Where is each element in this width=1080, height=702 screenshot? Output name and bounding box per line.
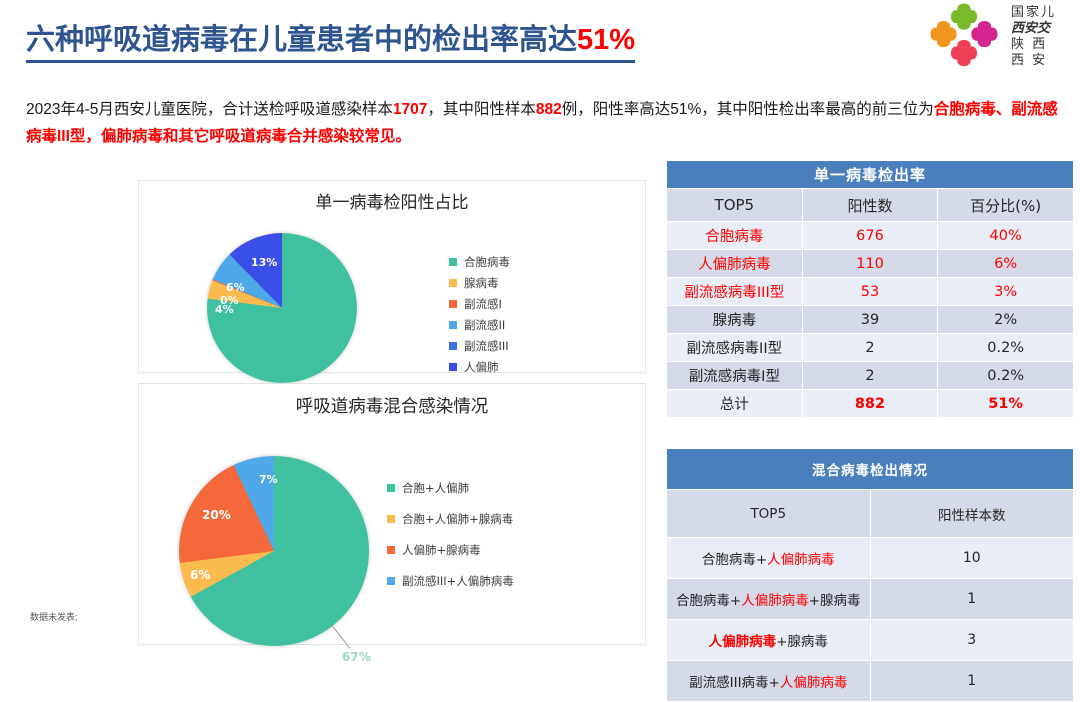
legend-label: 合胞+人偏肺+腺病毒 <box>402 512 513 526</box>
table1-cell-count: 676 <box>802 222 938 250</box>
table1-cell-name: 副流感病毒III型 <box>667 278 803 306</box>
table-caption-row: 单一病毒检出率 <box>667 161 1074 189</box>
combo-part-a: 副流感III病毒+ <box>689 675 780 691</box>
combo-part-c: +腺病毒 <box>809 593 861 609</box>
legend-item: 人偏肺+腺病毒 <box>387 543 514 557</box>
pie2-label-hmpv-adeno: 20% <box>202 508 231 522</box>
table1-cell-name: 副流感病毒II型 <box>667 334 803 362</box>
pie2-label-rsv-hmpv-adeno: 6% <box>190 568 210 582</box>
table1-cell-name: 腺病毒 <box>667 306 803 334</box>
chart-title-1: 单一病毒检阳性占比 <box>139 188 645 213</box>
footnote: 数据未发表; <box>30 610 78 623</box>
table-row: 腺病毒 39 2% <box>667 306 1074 334</box>
table-row: 人偏肺病毒 110 6% <box>667 250 1074 278</box>
combo-part-a: 合胞病毒+ <box>676 593 741 609</box>
chart-legend-2: 合胞+人偏肺 合胞+人偏肺+腺病毒 人偏肺+腺病毒 副流感III+人偏肺病毒 <box>387 481 514 605</box>
summary-paragraph: 2023年4-5月西安儿童医院，合计送检呼吸道感染样本1707，其中阳性样本88… <box>26 96 1070 150</box>
pie2-leader-line <box>332 626 350 649</box>
legend-swatch-icon <box>449 279 457 287</box>
table2-cell-count: 10 <box>870 538 1074 579</box>
table1-cell-pct: 6% <box>938 250 1074 278</box>
para-number-total-samples: 1707 <box>393 101 427 118</box>
table1-cell-count: 2 <box>802 362 938 390</box>
legend-item: 副流感I <box>449 297 510 311</box>
pie2-label-pi3-hmpv: 7% <box>259 473 278 486</box>
table2-cell-count: 3 <box>870 620 1074 661</box>
table1-col-2: 百分比(%) <box>938 189 1074 222</box>
table1-cell-pct: 0.2% <box>938 334 1074 362</box>
combo-part-a: 合胞病毒+ <box>702 552 767 568</box>
table1-cell-count: 110 <box>802 250 938 278</box>
combo-part-c: +腺病毒 <box>776 634 828 650</box>
table-row: 副流感III病毒+人偏肺病毒 1 <box>667 661 1074 702</box>
legend-swatch-icon <box>449 258 457 266</box>
legend-label: 人偏肺 <box>464 360 499 374</box>
table1-cell-pct: 3% <box>938 278 1074 306</box>
table-single-virus-detection: 单一病毒检出率 TOP5 阳性数 百分比(%) 合胞病毒 676 40% 人偏肺… <box>666 160 1074 418</box>
para-part-3: 例，阳性率高达51%，其中阳性检出率最高的前三位为 <box>562 101 934 118</box>
legend-label: 副流感I <box>464 297 502 311</box>
legend-label: 副流感III+人偏肺病毒 <box>402 574 514 588</box>
slide-root: 六种呼吸道病毒在儿童患者中的检出率高达51% 国家儿 西安交 陕 西 西 安 2… <box>0 0 1080 677</box>
table1-cell-name: 人偏肺病毒 <box>667 250 803 278</box>
table1-col-0: TOP5 <box>667 189 803 222</box>
legend-swatch-icon <box>449 342 457 350</box>
pie1-label-pi3: 6% <box>226 281 245 294</box>
combo-part-b: 人偏肺病毒 <box>780 675 848 691</box>
table-row: 副流感病毒III型 53 3% <box>667 278 1074 306</box>
table-row: 合胞病毒+人偏肺病毒+腺病毒 1 <box>667 579 1074 620</box>
legend-item: 人偏肺 <box>449 360 510 374</box>
table-mixed-virus-detection: 混合病毒检出情况 TOP5 阳性样本数 合胞病毒+人偏肺病毒 10 合胞病毒+人… <box>666 448 1074 702</box>
table2-cell-count: 1 <box>870 661 1074 702</box>
legend-item: 合胞病毒 <box>449 255 510 269</box>
combo-part-b: 人偏肺病毒 <box>709 634 777 650</box>
legend-swatch-icon <box>387 515 395 523</box>
legend-label: 副流感III <box>464 339 509 353</box>
legend-item: 副流感III+人偏肺病毒 <box>387 574 514 588</box>
table2-cell-combo: 合胞病毒+人偏肺病毒 <box>667 538 871 579</box>
legend-label: 人偏肺+腺病毒 <box>402 543 481 557</box>
page-title-highlight: 51% <box>577 24 635 56</box>
table1-cell-pct: 0.2% <box>938 362 1074 390</box>
para-part-1: 2023年4-5月西安儿童医院，合计送检呼吸道感染样本 <box>26 101 393 118</box>
organization-logo: 国家儿 西安交 陕 西 西 安 <box>925 2 1056 72</box>
legend-item: 腺病毒 <box>449 276 510 290</box>
legend-label: 腺病毒 <box>464 276 499 290</box>
table1-cell-pct: 51% <box>938 390 1074 418</box>
table1-caption: 单一病毒检出率 <box>667 161 1074 189</box>
flower-logo-icon <box>925 2 1003 72</box>
page-title-main: 六种呼吸道病毒在儿童患者中的检出率高达 <box>26 24 577 56</box>
table-row: 合胞病毒 676 40% <box>667 222 1074 250</box>
legend-item: 合胞+人偏肺 <box>387 481 514 495</box>
legend-item: 合胞+人偏肺+腺病毒 <box>387 512 514 526</box>
table2-col-0: TOP5 <box>667 490 871 538</box>
table-header-row: TOP5 阳性数 百分比(%) <box>667 189 1074 222</box>
table2-cell-count: 1 <box>870 579 1074 620</box>
table1-cell-pct: 2% <box>938 306 1074 334</box>
page-title: 六种呼吸道病毒在儿童患者中的检出率高达51% <box>26 16 635 63</box>
chart-body-1: 13% 6% 0% 4% 77% 合胞病毒 腺病毒 副流感I 副流感II 副流感… <box>139 213 645 404</box>
combo-part-b: 人偏肺病毒 <box>767 552 835 568</box>
table-caption-row: 混合病毒检出情况 <box>667 449 1074 490</box>
legend-swatch-icon <box>387 546 395 554</box>
table1-cell-count: 2 <box>802 334 938 362</box>
legend-label: 合胞+人偏肺 <box>402 481 469 495</box>
chart-title-2: 呼吸道病毒混合感染情况 <box>139 393 645 418</box>
pie1-label-renpianfei: 13% <box>251 256 277 269</box>
legend-swatch-icon <box>449 363 457 371</box>
legend-item: 副流感II <box>449 318 510 332</box>
logo-line-2: 西安交 <box>1011 21 1056 37</box>
pie2-label-rsv-hmpv: 67% <box>342 650 371 664</box>
legend-item: 副流感III <box>449 339 510 353</box>
legend-swatch-icon <box>387 577 395 585</box>
legend-label: 合胞病毒 <box>464 255 510 269</box>
table1-cell-count: 882 <box>802 390 938 418</box>
chart-legend-1: 合胞病毒 腺病毒 副流感I 副流感II 副流感III 人偏肺 <box>449 255 510 381</box>
table1-cell-name: 副流感病毒I型 <box>667 362 803 390</box>
table-row: 副流感病毒I型 2 0.2% <box>667 362 1074 390</box>
table-row: 人偏肺病毒+腺病毒 3 <box>667 620 1074 661</box>
logo-line-3: 陕 西 <box>1011 37 1056 53</box>
table-row: 合胞病毒+人偏肺病毒 10 <box>667 538 1074 579</box>
table1-cell-count: 39 <box>802 306 938 334</box>
table1-cell-name: 合胞病毒 <box>667 222 803 250</box>
chart-card-mixed-infection: 呼吸道病毒混合感染情况 7% 20% 6% 67% 合胞+人偏肺 合胞+人偏肺+… <box>138 383 646 645</box>
legend-swatch-icon <box>449 300 457 308</box>
logo-text: 国家儿 西安交 陕 西 西 安 <box>1011 5 1056 69</box>
table-row: 副流感病毒II型 2 0.2% <box>667 334 1074 362</box>
table-header-row: TOP5 阳性样本数 <box>667 490 1074 538</box>
logo-line-4: 西 安 <box>1011 53 1056 69</box>
table2-caption: 混合病毒检出情况 <box>667 449 1074 490</box>
table2-col-1: 阳性样本数 <box>870 490 1074 538</box>
table2-cell-combo: 副流感III病毒+人偏肺病毒 <box>667 661 871 702</box>
logo-line-1: 国家儿 <box>1011 5 1056 21</box>
table1-cell-count: 53 <box>802 278 938 306</box>
table-total-row: 总计 882 51% <box>667 390 1074 418</box>
pie1-label-adeno: 4% <box>215 303 234 316</box>
table1-cell-pct: 40% <box>938 222 1074 250</box>
chart-card-single-virus: 单一病毒检阳性占比 13% 6% 0% 4% 77% 合胞病毒 腺病毒 副流感I… <box>138 180 646 373</box>
table2-cell-combo: 合胞病毒+人偏肺病毒+腺病毒 <box>667 579 871 620</box>
combo-part-b: 人偏肺病毒 <box>741 593 809 609</box>
para-number-positive-samples: 882 <box>536 101 562 118</box>
chart-body-2: 7% 20% 6% 67% 合胞+人偏肺 合胞+人偏肺+腺病毒 人偏肺+腺病毒 … <box>139 418 645 678</box>
table2-cell-combo: 人偏肺病毒+腺病毒 <box>667 620 871 661</box>
table1-cell-name: 总计 <box>667 390 803 418</box>
legend-swatch-icon <box>387 484 395 492</box>
legend-label: 副流感II <box>464 318 505 332</box>
table1-col-1: 阳性数 <box>802 189 938 222</box>
para-part-2: ，其中阳性样本 <box>427 101 536 118</box>
legend-swatch-icon <box>449 321 457 329</box>
